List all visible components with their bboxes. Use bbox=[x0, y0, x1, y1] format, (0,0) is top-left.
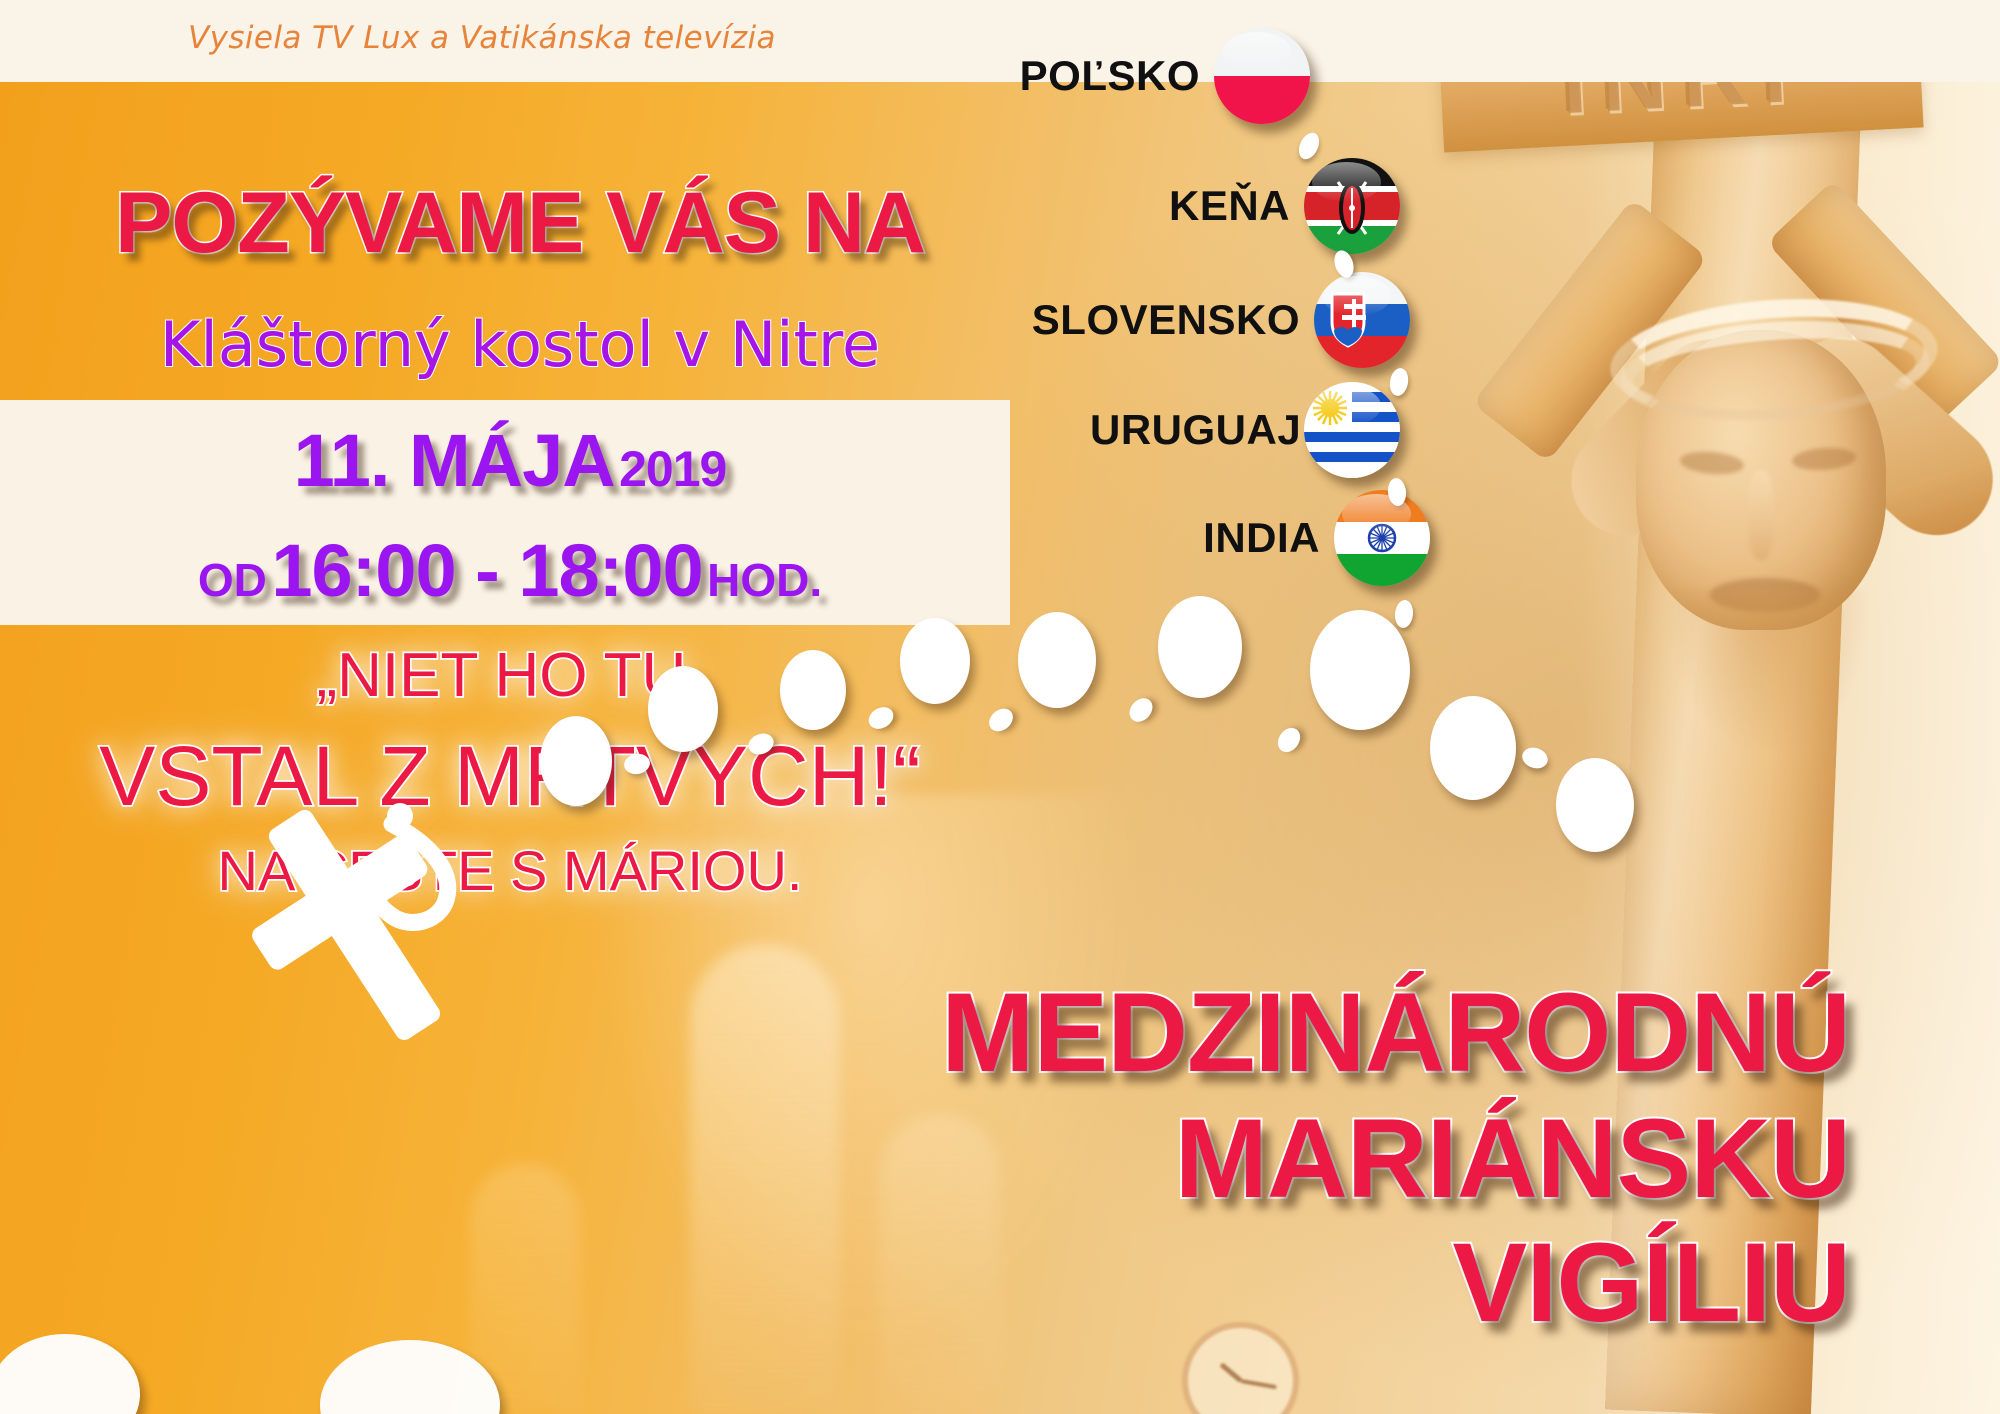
rosary-bead bbox=[1018, 612, 1096, 708]
venue-name: Kláštorný kostol v Nitre bbox=[60, 308, 980, 381]
rosary-bead bbox=[648, 666, 718, 752]
flag-label-india: INDIA bbox=[1160, 514, 1320, 562]
flag-poland-icon bbox=[1214, 28, 1310, 124]
christ-nose bbox=[1748, 470, 1774, 560]
event-title-line-2: MARIÁNSKU bbox=[1175, 1094, 1850, 1223]
rosary-bead bbox=[540, 716, 612, 806]
flag-label-poland: POĽSKO bbox=[1000, 52, 1200, 100]
rosary-bead bbox=[1430, 696, 1516, 800]
rosary-bead bbox=[1556, 758, 1634, 852]
flag-label-kenya: KEŇA bbox=[1110, 182, 1290, 230]
flag-row-poland: POĽSKO bbox=[1000, 28, 1310, 124]
rosary-bead bbox=[900, 618, 970, 704]
headline-invitation: POZÝVAME VÁS NA bbox=[60, 174, 980, 273]
church-tower-main bbox=[690, 944, 840, 1414]
time-range: 16:00 - 18:00 bbox=[271, 529, 702, 612]
poster-root: INRI Vysiela TV Lux a Vatikánska televíz… bbox=[0, 0, 2000, 1414]
flag-india-icon bbox=[1334, 490, 1430, 586]
rosary-cross-icon bbox=[196, 790, 526, 1080]
flag-slovakia-icon bbox=[1314, 272, 1410, 368]
flag-row-india: INDIA bbox=[1160, 490, 1430, 586]
event-date-year: 2019 bbox=[619, 441, 726, 497]
time-suffix: HOD. bbox=[707, 554, 822, 606]
time-prefix: OD bbox=[198, 554, 267, 606]
event-date-daymonth: 11. MÁJA bbox=[294, 419, 615, 502]
rosary-bead bbox=[1310, 610, 1410, 730]
event-date: 11. MÁJA 2019 bbox=[40, 418, 980, 503]
clock-hour-hand bbox=[1219, 1362, 1242, 1383]
rosary-bead bbox=[780, 650, 846, 730]
christ-beard bbox=[1668, 590, 1868, 750]
event-title-line-1: MEDZINÁRODNÚ bbox=[941, 968, 1850, 1097]
broadcast-note: Vysiela TV Lux a Vatikánska televízia bbox=[188, 20, 776, 56]
flag-row-kenya: KEŇA bbox=[1110, 158, 1400, 254]
event-time: OD 16:00 - 18:00 HOD. bbox=[40, 528, 980, 613]
event-title-line-3: VIGÍLIU bbox=[1453, 1218, 1850, 1347]
flag-uruguay-icon bbox=[1304, 382, 1400, 478]
flag-row-slovakia: SLOVENSKO bbox=[1030, 272, 1410, 368]
flag-label-uruguay: URUGUAJ bbox=[1090, 406, 1290, 454]
flag-label-slovakia: SLOVENSKO bbox=[1030, 296, 1300, 344]
flag-kenya-icon bbox=[1304, 158, 1400, 254]
clock-minute-hand bbox=[1240, 1379, 1276, 1389]
flag-row-uruguay: URUGUAJ bbox=[1090, 382, 1400, 478]
rosary-bead bbox=[1158, 596, 1242, 698]
church-tower-second bbox=[880, 1114, 1000, 1414]
